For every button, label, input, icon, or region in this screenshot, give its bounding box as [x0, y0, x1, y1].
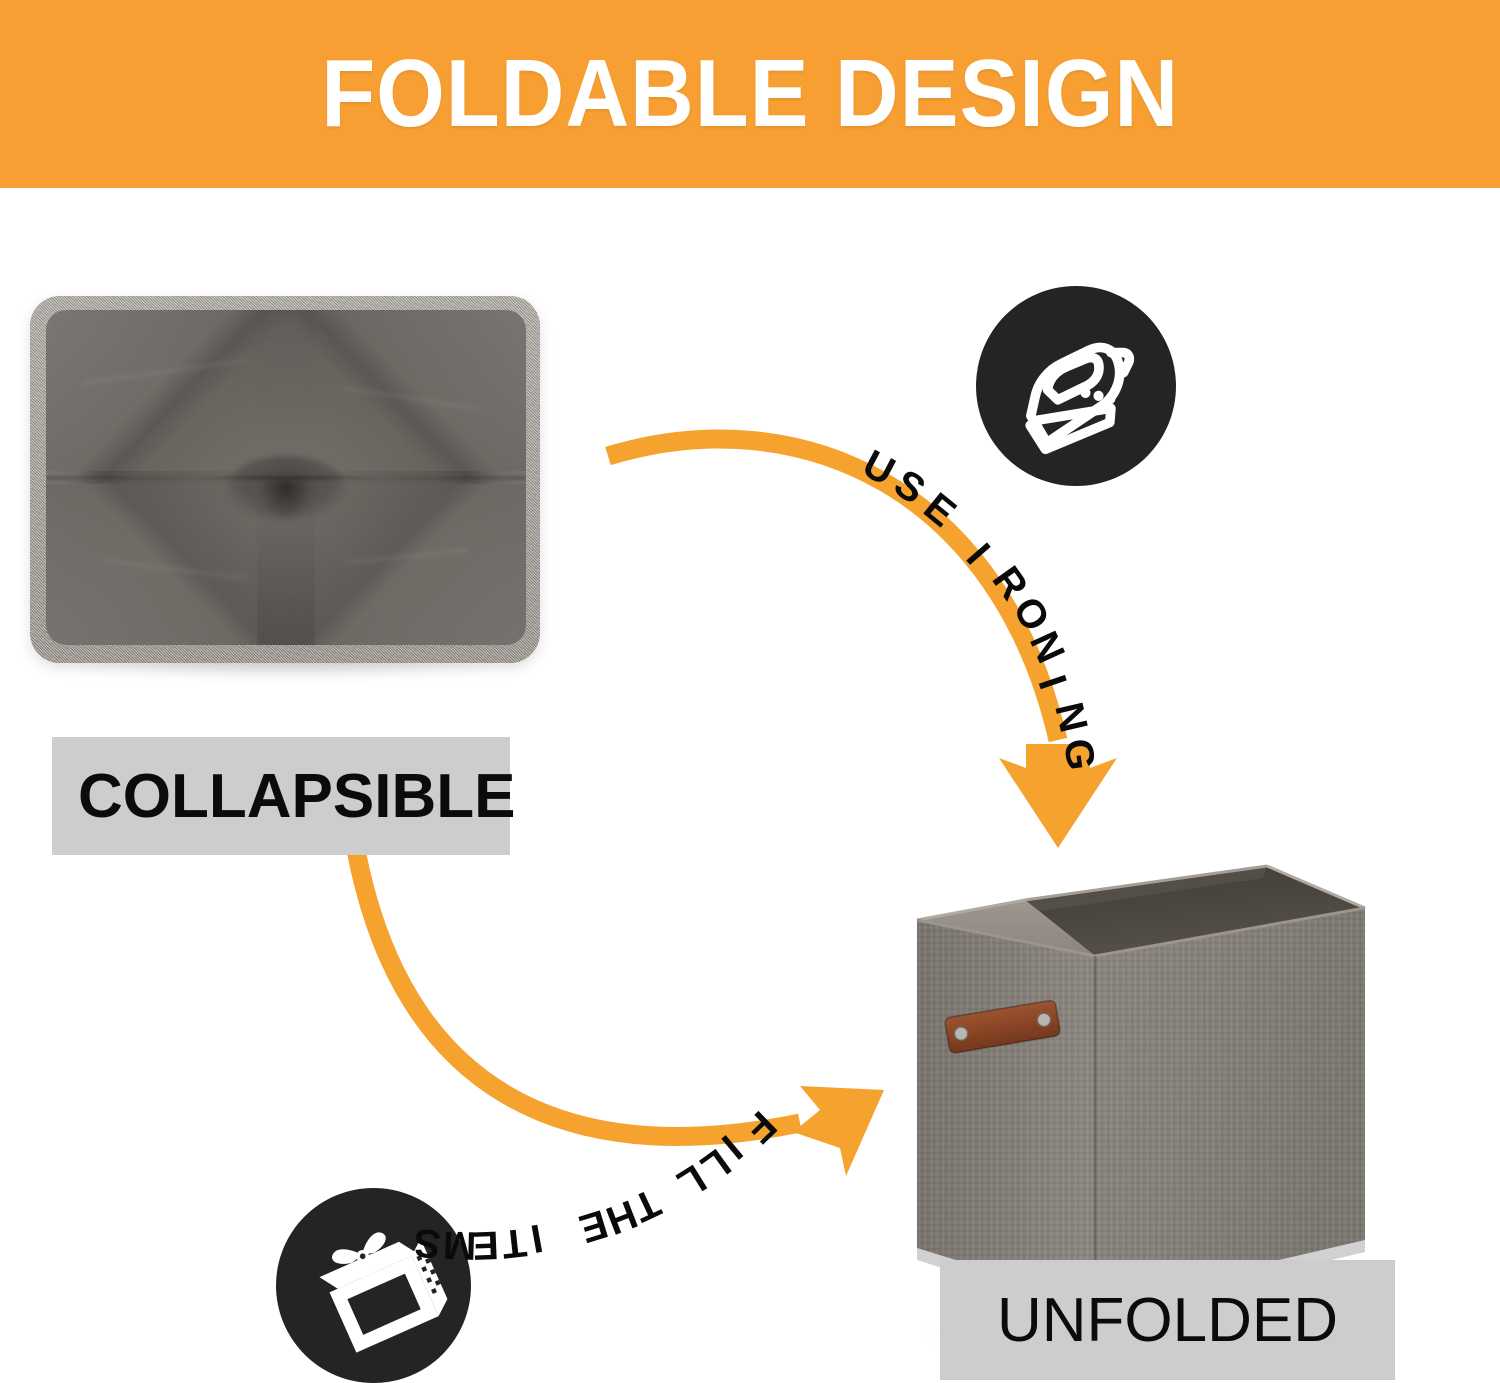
- label-unfolded-text: UNFOLDED: [997, 1285, 1338, 1356]
- fill-the-items-char: S: [412, 1219, 443, 1266]
- label-collapsible: COLLAPSIBLE: [52, 737, 510, 855]
- fill-the-items-char: T: [499, 1218, 528, 1265]
- label-unfolded: UNFOLDED: [940, 1260, 1395, 1380]
- infographic-stage: COLLAPSIBLE: [0, 188, 1500, 1378]
- fill-the-items-char: [546, 1210, 567, 1256]
- fill-the-items-char: I: [527, 1215, 546, 1261]
- header-banner: FOLDABLE DESIGN: [0, 0, 1500, 188]
- page-title: FOLDABLE DESIGN: [321, 39, 1179, 149]
- label-collapsible-text: COLLAPSIBLE: [52, 761, 515, 832]
- fill-the-items-char: F: [736, 1102, 785, 1151]
- fill-the-items-char: M: [442, 1221, 477, 1267]
